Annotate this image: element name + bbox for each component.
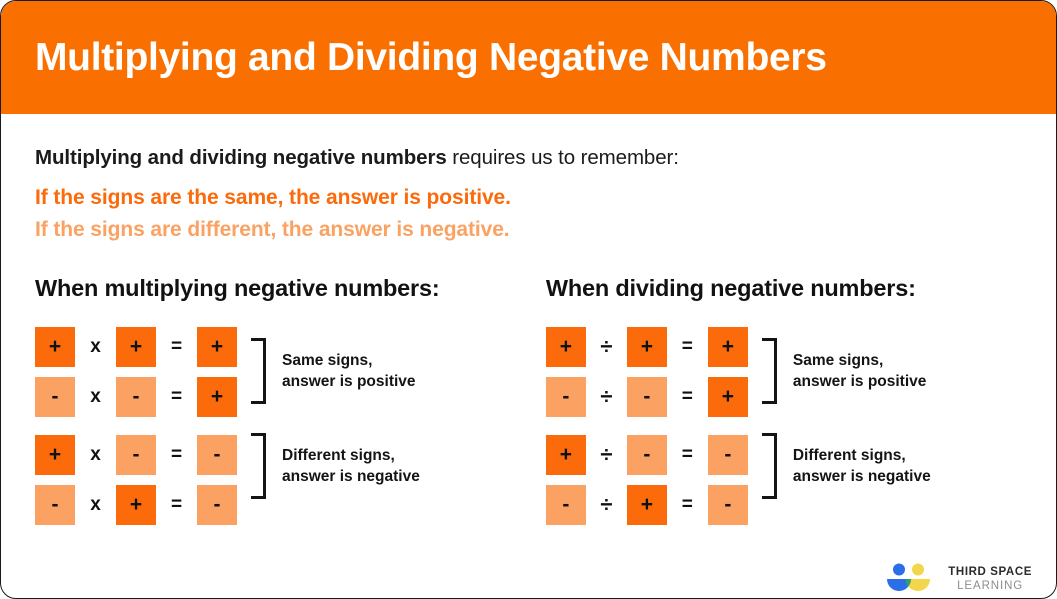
result-tile: - [197,435,237,475]
bracket-caption-line1: Different signs, [793,447,906,464]
operator-symbol: x [75,494,116,516]
panel-dividing: When dividing negative numbers: + ÷ + = … [546,275,1022,527]
bracket-block-same: Same signs, answer is positive [762,330,931,412]
panel-multiplying: When multiplying negative numbers: + x +… [35,275,546,527]
equation-row: - ÷ + = - [546,482,748,527]
logo-line-2: LEARNING [948,580,1032,593]
panel-dividing-heading: When dividing negative numbers: [546,275,1022,302]
operand-tile: + [116,327,156,367]
equation-row: + ÷ + = + [546,324,748,369]
operand-tile: + [35,435,75,475]
dividing-equation-groups: + ÷ + = + - ÷ - = + [546,324,748,527]
multiplying-equation-groups: + x + = + - x - = + [35,324,237,527]
operand-tile: + [546,435,586,475]
equation-row: - ÷ - = + [546,374,748,419]
bracket-caption-line2: answer is negative [793,468,931,485]
operand-tile: - [116,377,156,417]
panel-multiplying-heading: When multiplying negative numbers: [35,275,546,302]
result-tile: + [708,327,748,367]
operand-tile: + [627,327,667,367]
logo-wordmark: THIRD SPACE LEARNING [948,566,1032,592]
operand-tile: - [627,377,667,417]
operand-tile: - [35,485,75,525]
operand-tile: + [35,327,75,367]
bracket-caption: Same signs, answer is positive [793,350,927,393]
bracket-icon [762,338,777,404]
dividing-brackets: Same signs, answer is positive Different… [762,324,931,507]
bracket-block-different: Different signs, answer is negative [762,425,931,507]
bracket-caption-line1: Different signs, [282,447,395,464]
dividing-grid-wrap: + ÷ + = + - ÷ - = + [546,324,1022,527]
operator-symbol: ÷ [586,334,627,360]
multiplying-grid-wrap: + x + = + - x - = + [35,324,546,527]
multiplying-group-different: + x - = - - x + = - [35,432,237,527]
operand-tile: - [116,435,156,475]
operator-symbol: x [75,444,116,466]
operand-tile: + [546,327,586,367]
bracket-icon [762,433,777,499]
infographic-card: Multiplying and Dividing Negative Number… [0,0,1057,599]
bracket-caption-line2: answer is positive [793,373,927,390]
bracket-caption-line2: answer is positive [282,373,416,390]
logo-line-1: THIRD SPACE [948,566,1032,579]
equals-symbol: = [667,336,708,358]
equals-symbol: = [156,386,197,408]
equation-row: + ÷ - = - [546,432,748,477]
bracket-caption: Same signs, answer is positive [282,350,416,393]
intro-sentence: Multiplying and dividing negative number… [35,146,1022,170]
dividing-group-same: + ÷ + = + - ÷ - = + [546,324,748,419]
intro-bold-text: Multiplying and dividing negative number… [35,146,447,169]
operator-symbol: ÷ [586,492,627,518]
operand-tile: - [546,485,586,525]
operator-symbol: ÷ [586,384,627,410]
panels-container: When multiplying negative numbers: + x +… [35,275,1022,527]
dividing-group-different: + ÷ - = - - ÷ + = - [546,432,748,527]
result-tile: + [197,377,237,417]
multiplying-group-same: + x + = + - x - = + [35,324,237,419]
operand-tile: + [116,485,156,525]
operand-tile: + [627,485,667,525]
operand-tile: - [35,377,75,417]
operator-symbol: x [75,336,116,358]
equation-row: + x + = + [35,324,237,369]
bracket-block-same: Same signs, answer is positive [251,330,420,412]
equals-symbol: = [156,444,197,466]
intro-rest-text: requires us to remember: [447,146,679,169]
multiplying-brackets: Same signs, answer is positive Different… [251,324,420,507]
operand-tile: - [627,435,667,475]
bracket-caption-line1: Same signs, [793,352,883,369]
content-body: Multiplying and dividing negative number… [1,146,1056,599]
equals-symbol: = [667,386,708,408]
header-banner: Multiplying and Dividing Negative Number… [1,1,1056,114]
bracket-icon [251,433,266,499]
equation-row: - x + = - [35,482,237,527]
brand-logo: THIRD SPACE LEARNING [885,563,1032,596]
equals-symbol: = [667,494,708,516]
result-tile: - [708,435,748,475]
bracket-caption-line1: Same signs, [282,352,372,369]
result-tile: + [197,327,237,367]
rule-different-signs: If the signs are different, the answer i… [35,218,1022,242]
bracket-block-different: Different signs, answer is negative [251,425,420,507]
bracket-caption: Different signs, answer is negative [793,445,931,488]
result-tile: + [708,377,748,417]
equation-row: - x - = + [35,374,237,419]
bracket-caption: Different signs, answer is negative [282,445,420,488]
equals-symbol: = [156,336,197,358]
page-title: Multiplying and Dividing Negative Number… [35,36,827,80]
result-tile: - [708,485,748,525]
operand-tile: - [546,377,586,417]
operator-symbol: ÷ [586,442,627,468]
rule-same-signs: If the signs are the same, the answer is… [35,186,1022,210]
third-space-learning-logo-icon [885,563,937,596]
bracket-caption-line2: answer is negative [282,468,420,485]
result-tile: - [197,485,237,525]
operator-symbol: x [75,386,116,408]
bracket-icon [251,338,266,404]
equals-symbol: = [156,494,197,516]
equals-symbol: = [667,444,708,466]
equation-row: + x - = - [35,432,237,477]
